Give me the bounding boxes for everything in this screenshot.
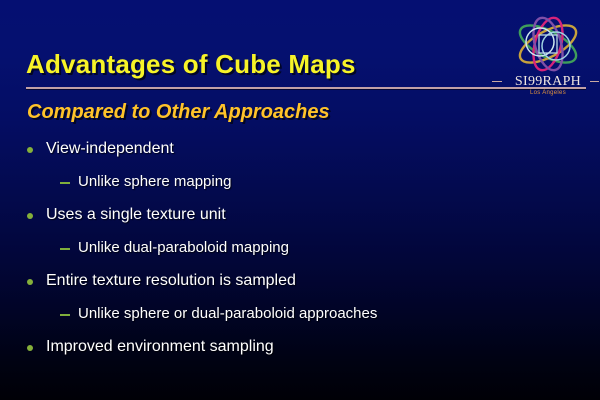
- list-item: Entire texture resolution is sampled: [0, 270, 600, 303]
- dash-bullet-icon: [60, 248, 70, 250]
- list-item: Uses a single texture unit: [0, 204, 600, 237]
- list-item: View-independent: [0, 138, 600, 171]
- dot-bullet-icon: [27, 147, 33, 153]
- dot-bullet-icon: [27, 345, 33, 351]
- bullet-list: View-independent Unlike sphere mapping U…: [0, 138, 600, 369]
- list-item-label: Unlike sphere or dual-paraboloid approac…: [78, 303, 600, 325]
- list-item-label: View-independent: [46, 138, 600, 160]
- dot-bullet-icon: [27, 213, 33, 219]
- list-item-label: Improved environment sampling: [46, 336, 600, 358]
- list-item: Unlike dual-paraboloid mapping: [0, 237, 600, 270]
- slide-title: Advantages of Cube Maps: [26, 49, 356, 80]
- slide-subtitle: Compared to Other Approaches: [27, 101, 330, 124]
- dash-bullet-icon: [60, 182, 70, 184]
- logo-city-label: Los Angeles: [498, 90, 598, 96]
- interlocking-rings-icon: [498, 8, 598, 80]
- slide-canvas: Advantages of Cube Maps Compared to Othe…: [0, 0, 600, 400]
- dash-bullet-icon: [60, 314, 70, 316]
- list-item-label: Unlike sphere mapping: [78, 171, 600, 193]
- list-item: Unlike sphere or dual-paraboloid approac…: [0, 303, 600, 336]
- list-item-label: Entire texture resolution is sampled: [46, 270, 600, 292]
- list-item: Improved environment sampling: [0, 336, 600, 369]
- list-item-label: Unlike dual-paraboloid mapping: [78, 237, 600, 259]
- list-item: Unlike sphere mapping: [0, 171, 600, 204]
- list-item-label: Uses a single texture unit: [46, 204, 600, 226]
- siggraph-logo: SI99RAPH Los Angeles: [498, 8, 598, 108]
- logo-wordmark: SI99RAPH: [498, 74, 598, 90]
- dot-bullet-icon: [27, 279, 33, 285]
